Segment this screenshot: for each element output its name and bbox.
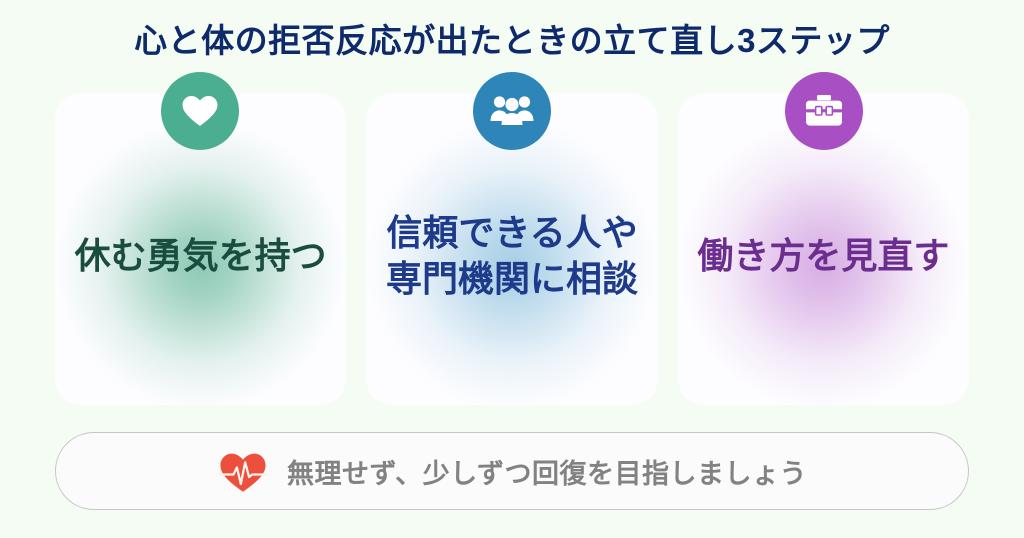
- step-label-2-line1: 信頼できる人や: [386, 210, 637, 256]
- people-group-icon-badge: [473, 72, 551, 150]
- step-label-2-line2: 専門機関に相談: [386, 256, 638, 302]
- briefcase-icon: [803, 92, 845, 130]
- people-group-icon: [490, 91, 534, 131]
- step-label-1-line1: 休む勇気を持つ: [75, 233, 327, 279]
- heartbeat-icon: [217, 447, 269, 495]
- step-label-3-line1: 働き方を見直す: [697, 233, 949, 279]
- footer-message: 無理せず、少しずつ回復を目指しましょう: [287, 452, 807, 491]
- page-title: 心と体の拒否反応が出たときの立て直し3ステップ: [0, 14, 1024, 62]
- heart-icon: [180, 91, 220, 131]
- footer-banner: 無理せず、少しずつ回復を目指しましょう: [55, 432, 969, 510]
- heart-icon-badge: [161, 72, 239, 150]
- briefcase-icon-badge: [785, 72, 863, 150]
